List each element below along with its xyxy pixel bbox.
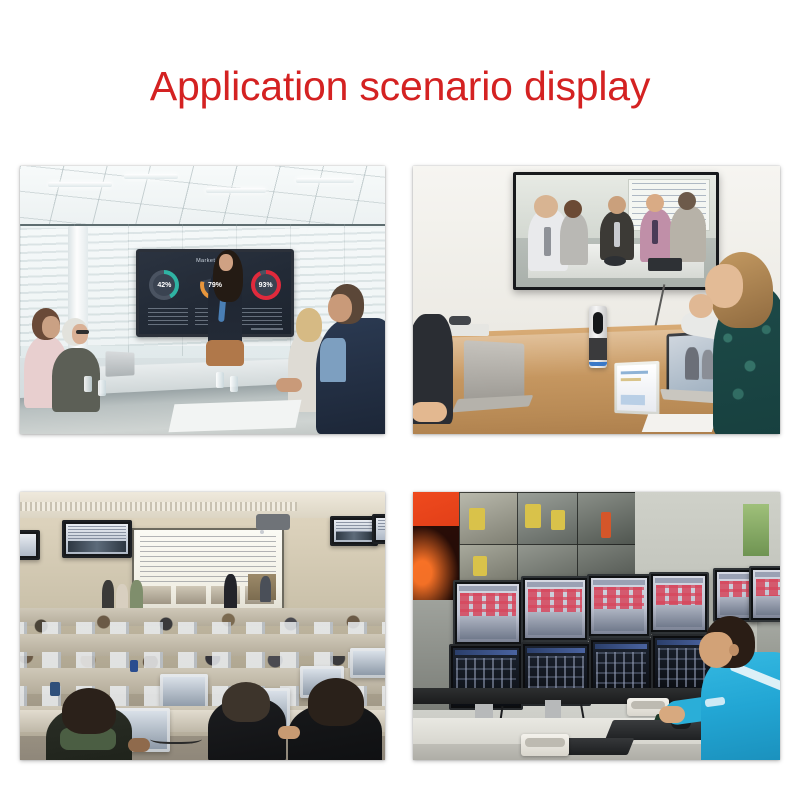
ceiling-light	[206, 188, 266, 193]
attendee-foreground-hand	[276, 378, 302, 392]
eyeglasses	[76, 330, 89, 334]
monitor-stand	[545, 700, 561, 718]
laptop-center-screen	[617, 364, 656, 412]
camera-status-led	[589, 362, 607, 366]
remote-laptop	[648, 258, 682, 271]
donut-label-93: 93%	[259, 282, 273, 289]
water-glass	[98, 380, 106, 396]
donut-label-79: 79%	[208, 282, 222, 289]
donut-label-42: 42%	[157, 282, 171, 289]
attendee-foreground-shirt	[320, 338, 346, 382]
laptop-video-figure	[685, 347, 699, 379]
remote-participant-2-head	[564, 200, 582, 218]
telephone-handset	[631, 701, 665, 709]
plant-equipment	[601, 512, 611, 538]
monitor-screen	[334, 520, 374, 542]
monitor-screen	[753, 570, 780, 618]
monitor-text	[378, 520, 385, 532]
wall-monitor-far-right	[372, 514, 385, 544]
water-glass	[230, 376, 238, 392]
attendee-left-face	[42, 316, 60, 338]
screen-lower-pane	[594, 609, 644, 631]
ceiling-light	[48, 182, 112, 187]
attendee-foreground-face	[328, 294, 352, 322]
control-room-scene	[413, 492, 780, 760]
operator-monitor-scada	[749, 566, 780, 622]
operator-hand	[659, 706, 685, 723]
papers-on-table	[642, 414, 719, 432]
donut-chart-93: 93%	[251, 270, 281, 300]
student-laptop	[350, 648, 385, 678]
tv-screen-remote-meeting	[516, 175, 716, 287]
attendee-left-hand	[413, 402, 447, 422]
monitor-screen	[457, 584, 519, 642]
water-glass	[216, 372, 224, 388]
screen-content-line	[621, 378, 641, 381]
water-glass	[84, 376, 92, 392]
screen-header-bar	[593, 580, 645, 585]
operator-monitor-scada	[453, 580, 523, 646]
student-foreground-center-head	[222, 682, 270, 722]
student-hand	[278, 726, 300, 739]
plant-equipment	[551, 510, 565, 530]
student-foreground-right-head	[308, 678, 364, 726]
screen-lower-pane	[720, 597, 752, 615]
remote-participant-3-shirt	[614, 222, 620, 247]
screen-title-bar	[595, 644, 647, 649]
slide-body-text	[148, 308, 188, 326]
operator-face	[699, 632, 733, 668]
attendee-second-face	[72, 324, 88, 344]
monitor-screen	[376, 518, 385, 540]
plant-equipment	[525, 504, 541, 528]
remote-speakerphone	[604, 256, 626, 266]
wall-monitor-right	[330, 516, 378, 546]
woman-hand	[689, 294, 713, 318]
papers-on-table	[168, 400, 301, 432]
screen-lower-pane	[460, 616, 516, 639]
monitor-thumbnails	[336, 532, 372, 540]
monitor-text	[68, 526, 126, 542]
monitor-screen	[591, 578, 647, 634]
monitor-screen	[20, 534, 36, 556]
ceiling-light	[296, 178, 354, 183]
donut-chart-42: 42%	[149, 270, 179, 300]
screen-content-block	[621, 395, 645, 405]
laptop-left	[464, 340, 524, 402]
screen-lower-pane	[656, 605, 702, 627]
laptop-screen	[163, 677, 205, 707]
video-wall-cell	[459, 492, 519, 546]
wall-monitor-left	[62, 520, 132, 558]
attendee-right-head	[296, 308, 322, 342]
application-scenario-page: Application scenario display Marke	[0, 0, 800, 800]
monitor-screen	[525, 580, 585, 638]
conference-camera	[589, 306, 607, 368]
monitor-screen	[66, 524, 128, 554]
panel-conference-presentation: Market Share 42% 79% 93%	[20, 166, 385, 434]
slide-footer-text	[251, 328, 283, 330]
laptop	[106, 351, 135, 377]
operator-ear	[729, 644, 739, 656]
window	[743, 504, 769, 556]
operator-monitor-scada	[521, 576, 589, 642]
ceiling-light	[124, 174, 178, 179]
drink-cup	[50, 682, 60, 696]
ceiling-vent	[20, 502, 297, 511]
presenter-face	[219, 254, 233, 271]
screen-header-bar	[655, 578, 703, 583]
wall-mounted-tv	[513, 172, 719, 290]
screen-header-bar	[719, 574, 753, 579]
screen-title-bar	[455, 650, 517, 655]
student-foreground-left-head	[62, 688, 116, 734]
presenter-skirt	[206, 340, 244, 366]
photo-grid: Market Share 42% 79% 93%	[20, 166, 780, 760]
panel-lecture-hall	[20, 492, 385, 760]
remote-participant-1-head	[534, 195, 558, 217]
laptop-center	[614, 361, 659, 415]
attendee-second-body	[52, 348, 100, 412]
projector-lens-icon	[260, 530, 264, 534]
screen-header-bar	[527, 582, 583, 587]
screen-content-line	[621, 371, 648, 375]
laptop-video-figure	[702, 349, 714, 379]
telephone-handset	[525, 738, 565, 747]
student-laptop	[160, 674, 208, 710]
ceiling-projector	[256, 514, 290, 530]
power-cable	[150, 732, 202, 744]
remote-participant-4-tie	[652, 220, 658, 245]
remote-participant-5-body	[670, 206, 706, 262]
remote-participant-4-head	[646, 194, 664, 212]
plant-equipment	[473, 556, 487, 576]
drink-cup	[130, 660, 138, 672]
operator-monitor-scada	[649, 572, 709, 634]
camera-body	[589, 338, 607, 360]
video-conference-scene	[413, 166, 780, 434]
slide-body-text	[242, 308, 282, 326]
wall-monitor-far-left	[20, 530, 40, 560]
remote-participant-2-body	[560, 213, 588, 265]
plant-equipment	[469, 508, 485, 530]
desk-remote	[449, 316, 471, 325]
screen-lower-pane	[756, 596, 780, 615]
panel-control-room	[413, 492, 780, 760]
remote-participant-5-head	[678, 192, 696, 210]
monitor-thumbnails	[68, 541, 126, 552]
lecture-hall-scene	[20, 492, 385, 760]
laptop-screen	[353, 651, 385, 675]
screen-title-bar	[527, 648, 585, 653]
student-hand	[128, 738, 150, 752]
conference-presentation-scene: Market Share 42% 79% 93%	[20, 166, 385, 434]
page-title: Application scenario display	[0, 62, 800, 110]
monitor-screen	[653, 576, 705, 630]
desk-telephone	[521, 734, 569, 756]
screen-header-bar	[755, 572, 780, 577]
remote-participant-1-tie	[544, 227, 551, 256]
screen-header-bar	[459, 586, 517, 591]
operator-monitor-scada	[587, 574, 651, 638]
panel-video-conference	[413, 166, 780, 434]
schematic-display	[596, 652, 646, 693]
camera-lens-icon	[593, 312, 603, 334]
screen-lower-pane	[528, 612, 582, 635]
